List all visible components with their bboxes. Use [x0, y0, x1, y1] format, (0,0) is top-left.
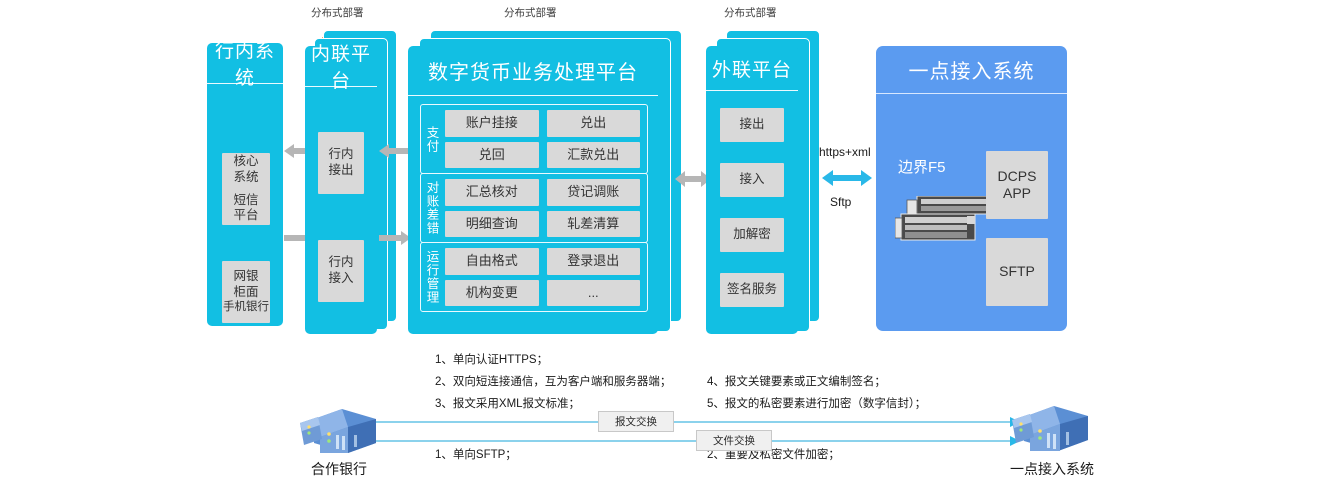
note-left-2: 2、双向短连接通信，互为客户端和服务器端； [435, 374, 671, 391]
chip-dcps-app: DCPS APP [986, 151, 1048, 219]
note-left-1: 1、单向认证HTTPS； [435, 352, 548, 369]
panel-access-system: 一点接入系统 边界F5 DCPS APP SFTP [876, 46, 1067, 331]
chip-connect-in: 接入 [720, 163, 784, 197]
link-label-https-xml: https+xml [819, 145, 871, 159]
chip-line: 柜面 [233, 285, 258, 301]
chip-line: 平台 [233, 208, 258, 224]
chip-netting-settle: 轧差清算 [547, 211, 641, 238]
group-label-operations: 运行管理 [421, 243, 443, 311]
note-left-3: 3、报文采用XML报文标准； [435, 396, 580, 413]
chip-ebank-counter-mobile: 网银 柜面 手机银行 [222, 261, 270, 323]
chip-line: 系统 [233, 170, 258, 186]
label-message-exchange: 报文交换 [598, 411, 674, 432]
group-label-payment: 支付 [421, 105, 443, 173]
caption-partner-bank: 合作银行 [296, 459, 382, 479]
panel-intranet-platform-stack: 内联平台 行内 接出 行内 接入 [305, 30, 400, 330]
panel-title-access-system: 一点接入系统 [876, 46, 1067, 94]
panel-bank-internal: 行内系统 核心 系统 短信 平台 网银 柜面 手机银行 [207, 43, 283, 326]
caption-access-system: 一点接入系统 [1002, 459, 1102, 479]
chip-line: 手机银行 [223, 300, 269, 314]
link-label-sftp: Sftp [830, 195, 851, 209]
panel-intranet-platform: 内联平台 行内 接出 行内 接入 [305, 46, 377, 334]
chip-line: 短信 [233, 193, 258, 209]
chip-line: 网银 [233, 269, 258, 285]
arrow-bidirectional-https-sftp [822, 168, 872, 188]
group-payment: 支付 账户挂接 兑出 兑回 汇款兑出 [420, 104, 648, 174]
chip-line: APP [1003, 185, 1031, 203]
group-operations: 运行管理 自由格式 登录退出 机构变更 ... [420, 242, 648, 312]
chip-sftp: SFTP [986, 238, 1048, 306]
panel-title-dcep-platform: 数字货币业务处理平台 [408, 46, 658, 96]
chip-line: 接入 [328, 271, 353, 287]
panel-external-platform: 外联平台 接出 接入 加解密 签名服务 [706, 46, 798, 334]
chip-line: 行内 [328, 255, 353, 271]
panel-title-intranet-platform: 内联平台 [305, 46, 377, 87]
chip-account-link: 账户挂接 [445, 110, 539, 137]
network-appliance-icon [895, 196, 993, 248]
panel-dcep-platform: 数字货币业务处理平台 支付 账户挂接 兑出 兑回 汇款兑出 对账差错 汇总核对 … [408, 46, 658, 334]
chip-line: 核心 [233, 154, 258, 170]
panel-dcep-platform-stack: 数字货币业务处理平台 支付 账户挂接 兑出 兑回 汇款兑出 对账差错 汇总核对 … [408, 30, 698, 330]
chip-encrypt-decrypt: 加解密 [720, 218, 784, 252]
chip-summary-check: 汇总核对 [445, 179, 539, 206]
server-icon-partner-bank [296, 405, 380, 457]
chip-exchange-out: 兑出 [547, 110, 641, 137]
chip-intranet-out: 行内 接出 [318, 132, 364, 194]
chip-connect-out: 接出 [720, 108, 784, 142]
chip-login-logout: 登录退出 [547, 248, 641, 275]
panel-title-bank-internal: 行内系统 [207, 43, 283, 84]
group-reconciliation: 对账差错 汇总核对 贷记调账 明细查询 轧差清算 [420, 173, 648, 243]
chip-org-change: 机构变更 [445, 280, 539, 307]
note-right-4: 4、报文关键要素或正文编制签名； [707, 374, 886, 391]
arrow-left-intranet-out [379, 143, 411, 159]
chip-credit-adjust: 贷记调账 [547, 179, 641, 206]
chip-remit-exchange-out: 汇款兑出 [547, 142, 641, 169]
chip-intranet-in: 行内 接入 [318, 240, 364, 302]
chip-line: 行内 [328, 147, 353, 163]
chip-free-format: 自由格式 [445, 248, 539, 275]
chip-core-sms: 核心 系统 短信 平台 [222, 153, 270, 225]
chip-exchange-back: 兑回 [445, 142, 539, 169]
chip-more: ... [547, 280, 641, 307]
f5-label: 边界F5 [898, 156, 946, 177]
arrow-right-intranet-in [379, 230, 411, 246]
label-file-exchange: 文件交换 [696, 430, 772, 451]
group-label-reconciliation: 对账差错 [421, 174, 443, 242]
panel-title-external-platform: 外联平台 [706, 46, 798, 91]
flow-file-exchange [348, 432, 1020, 460]
chip-line: DCPS [998, 168, 1037, 186]
note-right-5: 5、报文的私密要素进行加密（数字信封）； [707, 396, 926, 413]
server-icon-access-system [1010, 403, 1094, 457]
chip-detail-query: 明细查询 [445, 211, 539, 238]
panel-external-platform-stack: 外联平台 接出 接入 加解密 签名服务 [706, 30, 831, 330]
chip-line: 接出 [328, 163, 353, 179]
chip-signature-service: 签名服务 [720, 273, 784, 307]
